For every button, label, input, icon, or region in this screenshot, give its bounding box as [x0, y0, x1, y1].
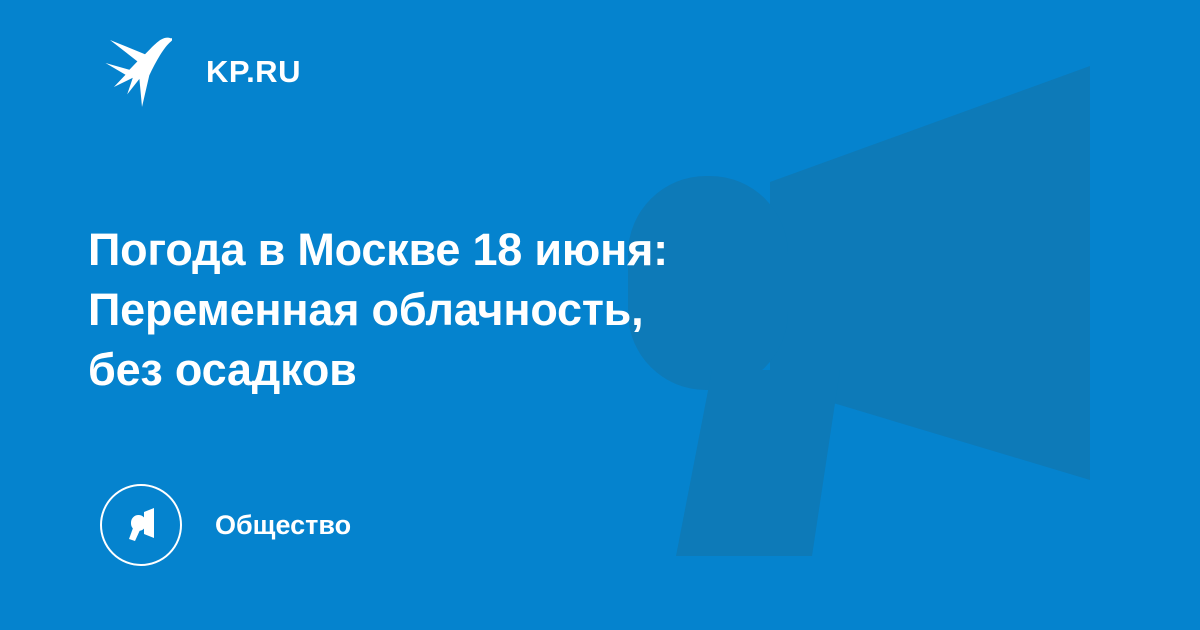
category-badge[interactable] — [100, 484, 182, 566]
category-label: Общество — [215, 512, 351, 539]
headline-line-2: Переменная облачность, — [88, 280, 888, 340]
headline-line-3: без осадков — [88, 340, 888, 400]
brand-wordmark: KP.RU — [206, 56, 301, 87]
swallow-bird-icon — [104, 35, 172, 107]
share-card: KP.RU Погода в Москве 18 июня: Переменна… — [0, 0, 1200, 630]
megaphone-icon — [119, 503, 163, 547]
headline-line-1: Погода в Москве 18 июня: — [88, 220, 888, 280]
headline: Погода в Москве 18 июня: Переменная обла… — [88, 220, 888, 400]
brand-logo[interactable]: KP.RU — [104, 34, 301, 108]
category-tag[interactable]: Общество — [100, 484, 351, 566]
